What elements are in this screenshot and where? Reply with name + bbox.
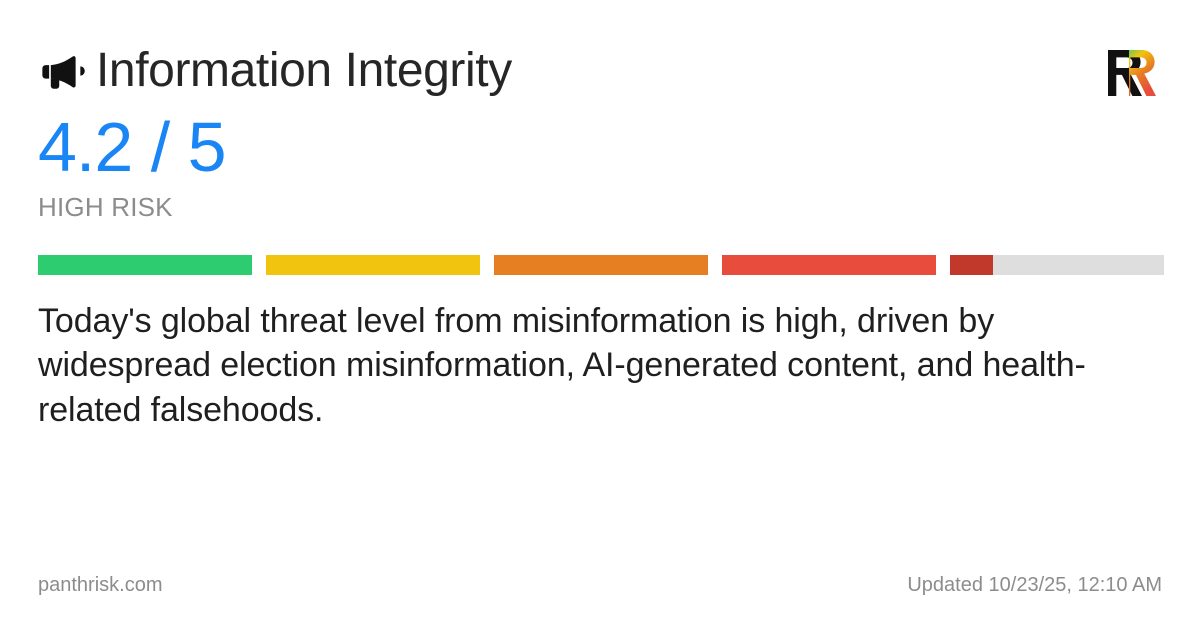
footer-site-name: panthrisk.com [38,574,163,597]
megaphone-icon [38,44,94,98]
panth-risk-logo [1102,48,1156,98]
meter-segment-4-high [722,255,936,275]
summary-text: Today's global threat level from misinfo… [38,299,1162,433]
footer-updated-timestamp: Updated 10/23/25, 12:10 AM [907,574,1162,597]
meter-segment-1-low [38,255,252,275]
meter-segment-5-severe [950,255,1164,275]
meter-segment-2-moderate [266,255,480,275]
information-integrity-card: Information Integrity 4.2 / [0,0,1200,630]
meter-segment-4-high-fill [722,255,936,275]
page-title: Information Integrity [96,46,512,96]
risk-level-label: HIGH RISK [38,193,1162,222]
meter-segment-3-elevated [494,255,708,275]
title-group: Information Integrity [38,44,512,98]
header: Information Integrity [38,44,1162,98]
risk-meter [38,255,1164,275]
meter-segment-5-severe-fill [950,255,993,275]
meter-segment-2-moderate-fill [266,255,480,275]
score-value: 4.2 / 5 [38,112,1162,182]
footer: panthrisk.com Updated 10/23/25, 12:10 AM [38,574,1162,597]
meter-segment-3-elevated-fill [494,255,708,275]
meter-segment-1-low-fill [38,255,252,275]
